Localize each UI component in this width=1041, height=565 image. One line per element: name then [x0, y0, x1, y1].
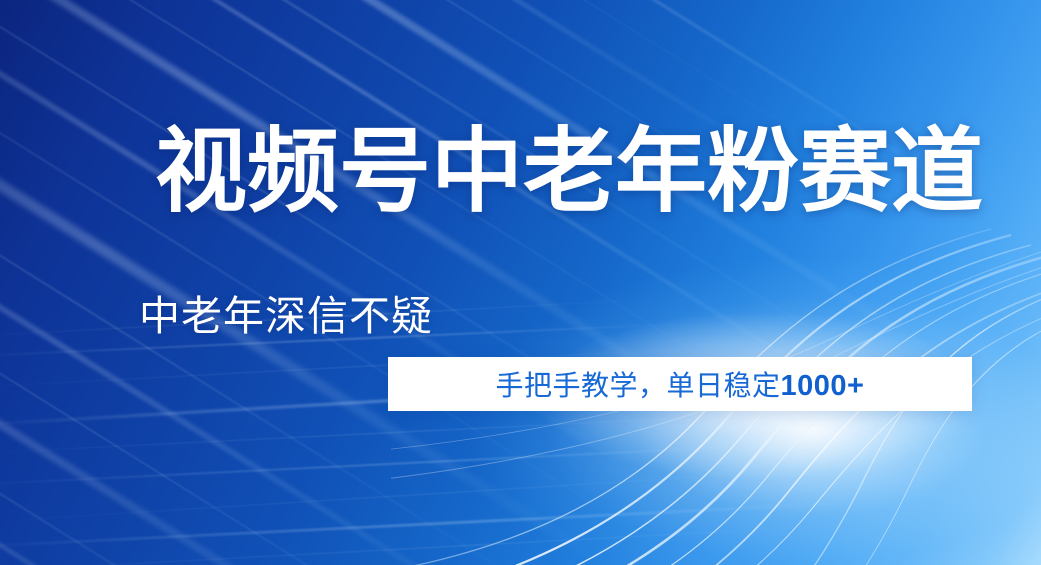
page-title: 视频号中老年粉赛道 — [155, 126, 983, 218]
callout-bar-highlight: 1000+ — [781, 370, 865, 402]
promo-banner: 视频号中老年粉赛道 中老年深信不疑 手把手教学，单日稳定1000+ — [0, 0, 1041, 565]
page-subtitle: 中老年深信不疑 — [139, 296, 433, 337]
callout-bar: 手把手教学，单日稳定1000+ — [388, 357, 972, 411]
callout-bar-text: 手把手教学，单日稳定1000+ — [496, 364, 865, 404]
callout-bar-prefix: 手把手教学，单日稳定 — [496, 370, 781, 401]
